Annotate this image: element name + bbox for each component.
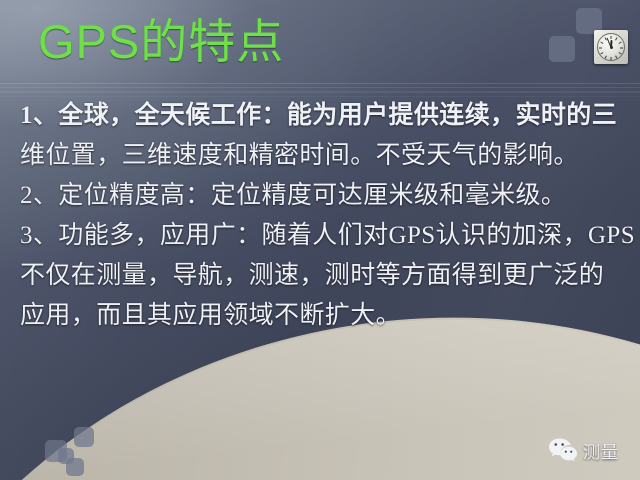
clock-tick	[619, 52, 622, 54]
deco-square-bottom-left-3	[74, 427, 94, 447]
clock-tick	[600, 52, 603, 54]
clock-tick	[599, 48, 602, 49]
body-text-block: 1、全球，全天候工作：能为用户提供连续，实时的三维位置，三维速度和精密时间。不受…	[20, 96, 628, 336]
clock-tick	[615, 37, 617, 40]
body-line: 1、全球，全天候工作：能为用户提供连续，实时的三	[20, 96, 628, 136]
page-title: GPS的特点	[38, 18, 284, 65]
body-line: 2、定位精度高：定位精度可达厘米级和毫米级。	[20, 176, 628, 216]
wechat-icon	[548, 437, 578, 463]
clock-tick	[611, 57, 612, 60]
clock-tick	[611, 36, 612, 39]
body-line: 不仅在测量，导航，测速，测时等方面得到更广泛的	[20, 256, 628, 296]
clock-face	[597, 33, 625, 61]
body-line: 3、功能多，应用广：随着人们对GPS认识的加深，GPS	[20, 216, 628, 256]
watermark-label: 测量	[583, 438, 619, 463]
analog-clock-icon	[594, 30, 628, 64]
clock-tick	[605, 56, 607, 59]
body-line: 维位置，三维速度和精密时间。不受天气的影响。	[20, 136, 628, 176]
clock-center-pin	[610, 46, 613, 49]
clock-tick	[600, 42, 603, 44]
slide-canvas: GPS的特点 1、全球，全天候工作：能为用户提供连续，实时的三维位置，三维速度和…	[0, 0, 640, 480]
deco-square-bottom-left-4	[58, 448, 74, 464]
clock-tick	[615, 56, 617, 59]
clock-tick	[619, 42, 622, 44]
watermark: 测量	[548, 437, 619, 463]
body-line: 应用，而且其应用领域不断扩大。	[20, 296, 628, 336]
clock-tick	[620, 48, 623, 49]
deco-square-top-right-2	[549, 36, 575, 62]
